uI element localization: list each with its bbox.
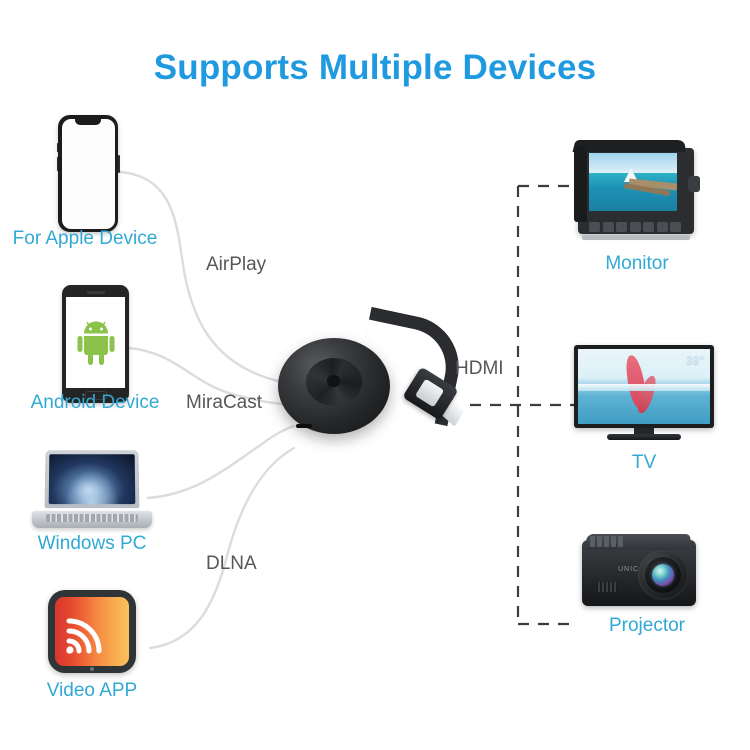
monitor-button[interactable] (630, 222, 641, 232)
laptop-base (32, 511, 152, 528)
monitor-screen (589, 153, 677, 211)
laptop-icon (32, 450, 152, 528)
television-icon: 39" (574, 345, 714, 445)
projector-brand-label: UNIC (618, 566, 639, 573)
projector-lens-glass (652, 564, 674, 586)
android-phone-icon (62, 285, 129, 403)
projector-button-row[interactable] (590, 536, 623, 547)
projector-button[interactable] (590, 536, 595, 547)
tv-screen: 39" (578, 349, 710, 424)
iphone-notch (75, 118, 101, 125)
monitor-button-row[interactable] (589, 222, 681, 232)
laptop-keyboard (46, 514, 138, 522)
wireless-display-dongle[interactable] (278, 310, 478, 455)
tv-screen-size-badge: 39" (686, 353, 705, 367)
output-label-tv: TV (569, 452, 719, 474)
cast-signal-icon (65, 617, 107, 655)
source-android[interactable] (62, 285, 129, 403)
video-app-home-dot (90, 667, 94, 671)
output-label-monitor: Monitor (562, 253, 712, 275)
monitor-base-bar (582, 235, 690, 240)
monitor-sun-hood-left (574, 146, 587, 222)
output-tv[interactable]: 39" (574, 345, 714, 445)
curve-pc (148, 426, 294, 498)
video-app-icon (48, 590, 136, 673)
output-projector[interactable]: UNIC (576, 530, 702, 614)
monitor-button[interactable] (670, 222, 681, 232)
iphone-power-button (118, 155, 120, 173)
dongle-face-pattern (306, 358, 362, 406)
projector-button[interactable] (611, 536, 616, 547)
projector-icon: UNIC (576, 530, 702, 614)
dongle-body (278, 338, 390, 434)
android-robot-icon (76, 320, 116, 366)
iphone-side-button (57, 143, 59, 152)
output-label-projector: Projector (572, 615, 722, 637)
source-label-videoapp: Video APP (7, 680, 177, 702)
hdmi-label: HDMI (455, 358, 504, 380)
projector-button[interactable] (597, 536, 602, 547)
dongle-icon (278, 310, 478, 455)
laptop-screen (49, 454, 136, 504)
projector-lens-mid (645, 557, 681, 593)
source-label-android: Android Device (10, 392, 180, 414)
projector-button[interactable] (618, 536, 623, 547)
monitor-mount-knob (688, 176, 700, 192)
tv-stand-base (607, 434, 681, 440)
dongle-power-port (296, 424, 312, 428)
page-title: Supports Multiple Devices (0, 48, 750, 88)
source-videoapp[interactable] (48, 590, 136, 673)
source-label-pc: Windows PC (7, 533, 177, 555)
android-screen (66, 297, 125, 388)
monitor-sun-hood-top (573, 140, 688, 152)
laptop-lid (45, 450, 140, 508)
iphone-screen (62, 119, 115, 229)
monitor-button[interactable] (657, 222, 668, 232)
android-speaker (87, 291, 105, 294)
protocol-label-dlna: DLNA (206, 553, 257, 575)
monitor-button[interactable] (616, 222, 627, 232)
projector-button[interactable] (604, 536, 609, 547)
iphone-icon (58, 115, 118, 232)
monitor-button[interactable] (643, 222, 654, 232)
source-label-apple: For Apple Device (0, 228, 170, 250)
tv-frame: 39" (574, 345, 714, 428)
field-monitor-icon (572, 140, 700, 244)
source-apple[interactable] (58, 115, 118, 232)
curve-apple (120, 172, 282, 382)
projector-vent (596, 582, 618, 592)
source-pc[interactable] (32, 450, 152, 528)
protocol-label-airplay: AirPlay (206, 254, 266, 276)
video-app-gradient (55, 597, 129, 666)
monitor-button[interactable] (603, 222, 614, 232)
output-monitor[interactable] (572, 140, 700, 244)
tv-screen-waterline (578, 384, 710, 392)
infographic-canvas: Supports Multiple Devices For Apple Devi… (0, 0, 750, 750)
projector-lens (638, 550, 688, 600)
monitor-button[interactable] (589, 222, 600, 232)
iphone-volume-button (57, 157, 59, 171)
protocol-label-miracast: MiraCast (186, 392, 262, 414)
